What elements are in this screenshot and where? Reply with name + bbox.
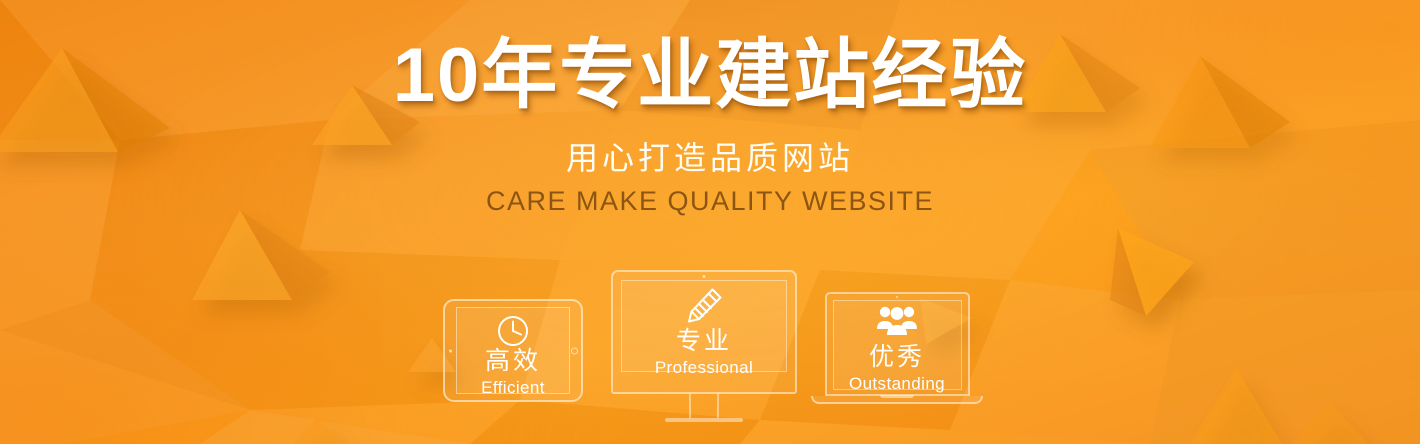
pencil-icon: [682, 284, 726, 328]
banner-subtitle-chinese: 用心打造品质网站: [566, 142, 854, 174]
feature-monitor-professional: 专业 Professional: [611, 270, 797, 422]
promo-banner: 10年专业建站经验 用心打造品质网站 CARE MAKE QUALITY WEB…: [0, 0, 1420, 444]
clock-icon-wrap: [445, 313, 581, 349]
pencil-icon-wrap: [611, 284, 797, 328]
feature-laptop-outstanding: 优秀 Outstanding: [817, 292, 977, 404]
monitor-camera-icon: [703, 275, 706, 278]
tablet-camera-icon: [449, 349, 452, 352]
banner-headline: 10年专业建站经验: [393, 38, 1028, 114]
people-group-icon-wrap: [817, 304, 977, 338]
laptop-trackpad-notch-icon: [880, 395, 914, 398]
laptop-camera-icon: [896, 296, 898, 298]
banner-subtitle-english: CARE MAKE QUALITY WEBSITE: [486, 188, 934, 215]
feature-tablet-efficient: 高效 Efficient: [443, 299, 583, 402]
people-group-icon: [876, 304, 918, 338]
laptop-base: [811, 396, 983, 404]
clock-icon: [495, 313, 531, 349]
monitor-stand-foot: [665, 418, 743, 422]
feature-device-row: 高效 Efficient: [0, 252, 1420, 422]
monitor-stand-neck: [689, 394, 719, 418]
